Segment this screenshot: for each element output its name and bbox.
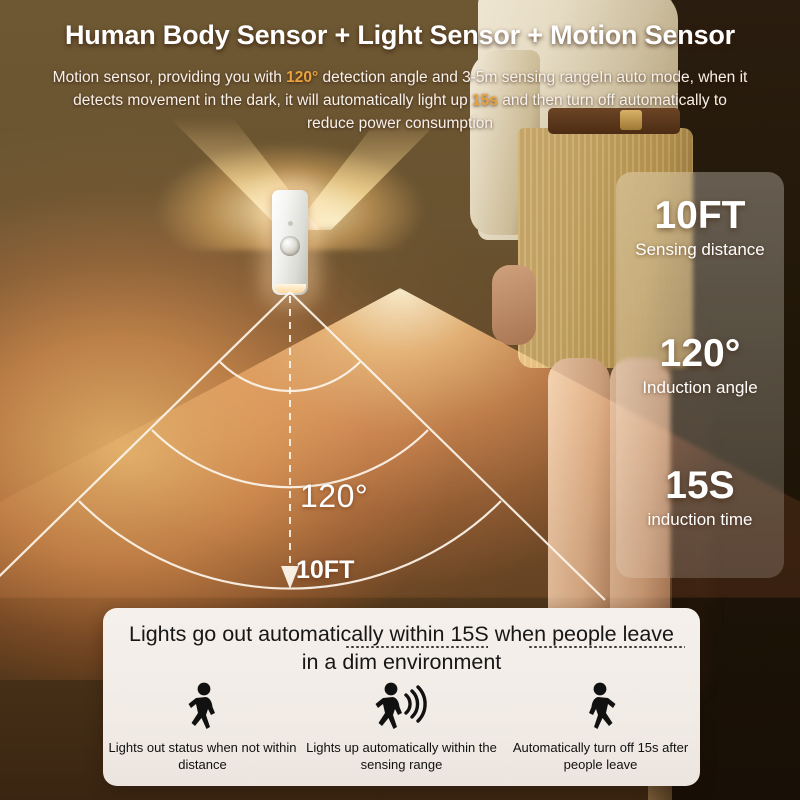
connector-dots-right (528, 646, 685, 648)
connector-dots-left (345, 646, 488, 648)
product-infographic: 120° 10FT Human Body Sensor + Light Sens… (0, 0, 800, 800)
spec-label: Sensing distance (616, 238, 784, 262)
spec-item-induction-time: 15S induction time (616, 464, 784, 532)
feature-card: Lights go out automatically within 15S w… (103, 608, 700, 786)
diagram-distance-label: 10FT (296, 556, 354, 585)
page-title: Human Body Sensor + Light Sensor + Motio… (0, 20, 800, 51)
spec-label: Induction angle (616, 376, 784, 400)
spec-value: 10FT (616, 194, 784, 238)
feature-column-lights-out: Lights out status when not within distan… (103, 682, 302, 786)
subtitle-highlight-angle: 120° (286, 69, 318, 86)
walking-person-signal-icon (371, 682, 433, 736)
spec-label: induction time (616, 508, 784, 532)
feature-column-turn-off: Automatically turn off 15s after people … (501, 682, 700, 786)
diagram-angle-label: 120° (300, 478, 368, 515)
page-subtitle: Motion sensor, providing you with 120° d… (52, 66, 748, 135)
spec-item-induction-angle: 120° Induction angle (616, 332, 784, 400)
walking-person-right-icon (580, 682, 622, 736)
spec-value: 120° (616, 332, 784, 376)
feature-card-heading: Lights go out automatically within 15S w… (119, 620, 684, 676)
pir-lens-icon (280, 236, 300, 256)
feature-caption: Automatically turn off 15s after people … (501, 740, 700, 773)
spec-item-sensing-distance: 10FT Sensing distance (616, 194, 784, 262)
subtitle-highlight-time: 15s (472, 92, 498, 109)
feature-column-lights-up: Lights up automatically within the sensi… (302, 682, 501, 786)
walking-person-icon (182, 682, 224, 736)
device-light-cap (274, 284, 306, 293)
indicator-led-icon (288, 221, 293, 226)
feature-caption: Lights out status when not within distan… (103, 740, 302, 773)
spec-value: 15S (616, 464, 784, 508)
spec-panel: 10FT Sensing distance 120° Induction ang… (616, 172, 784, 578)
feature-columns: Lights out status when not within distan… (103, 682, 700, 786)
sensor-device (272, 190, 308, 295)
feature-caption: Lights up automatically within the sensi… (302, 740, 501, 773)
subtitle-part-1: Motion sensor, providing you with (53, 69, 286, 86)
